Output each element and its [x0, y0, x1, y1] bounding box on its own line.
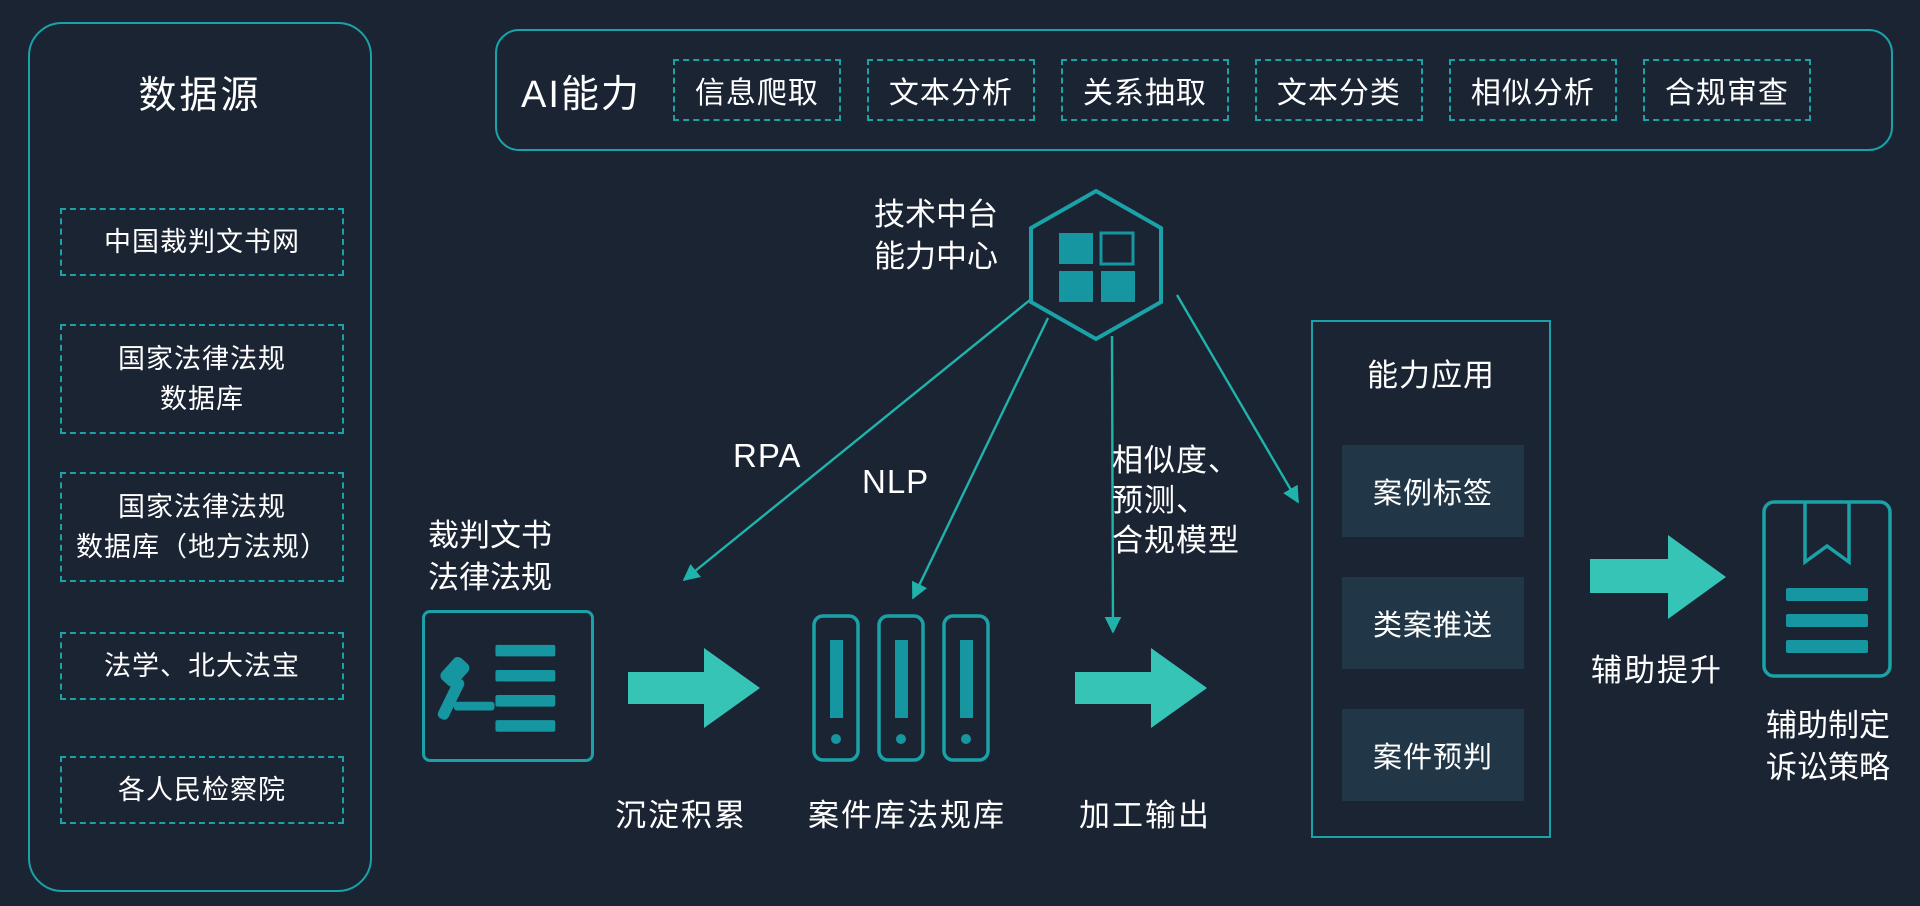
ai-capability-chip[interactable]: 文本分析 [867, 59, 1035, 121]
ai-capability-chip[interactable]: 文本分类 [1255, 59, 1423, 121]
ai-capability-chip[interactable]: 相似分析 [1449, 59, 1617, 121]
capability-application-panel: 能力应用 案例标签 类案推送 案件预判 [1311, 320, 1551, 838]
ai-capability-chip[interactable]: 合规审查 [1643, 59, 1811, 121]
edge-label-nlp: NLP [862, 462, 929, 502]
capability-application-item[interactable]: 案件预判 [1342, 709, 1524, 801]
datasource-item[interactable]: 各人民检察院 [60, 756, 344, 824]
edge-label-similarity: 相似度、 预测、 合规模型 [1112, 441, 1240, 561]
datasource-panel: 数据源 中国裁判文书网 国家法律法规 数据库 国家法律法规 数据库（地方法规） … [28, 22, 372, 892]
stage-caption-process-output: 加工输出 [1079, 790, 1211, 835]
edge-nlp-line [913, 318, 1048, 598]
flow-arrow-accumulate [628, 648, 760, 728]
datasource-item[interactable]: 中国裁判文书网 [60, 208, 344, 276]
bookmarked-document-icon [1762, 500, 1892, 678]
capability-application-title: 能力应用 [1313, 350, 1549, 395]
server-rack-icon [812, 614, 990, 762]
stage-caption-accumulate: 沉淀积累 [615, 790, 747, 835]
tech-hub-label: 技术中台 能力中心 [846, 194, 1026, 278]
gavel-document-icon [422, 610, 594, 762]
edge-label-rpa: RPA [733, 436, 801, 476]
stage-caption-assist-improve: 辅助提升 [1591, 645, 1723, 690]
ai-capability-bar: AI能力 信息爬取 文本分析 关系抽取 文本分类 相似分析 合规审查 [495, 29, 1893, 151]
datasource-item[interactable]: 国家法律法规 数据库 [60, 324, 344, 434]
capability-application-item[interactable]: 类案推送 [1342, 577, 1524, 669]
datasource-item[interactable]: 法学、北大法宝 [60, 632, 344, 700]
datasource-item[interactable]: 国家法律法规 数据库（地方法规） [60, 472, 344, 582]
result-caption: 辅助制定 诉讼策略 [1758, 705, 1898, 789]
document-stage-caption: 裁判文书 法律法规 [428, 515, 552, 599]
datasource-title: 数据源 [30, 64, 370, 119]
ai-capability-chip[interactable]: 信息爬取 [673, 59, 841, 121]
stage-caption-case-law-library: 案件库法规库 [808, 790, 1006, 835]
capability-application-item[interactable]: 案例标签 [1342, 445, 1524, 537]
ai-capability-chip[interactable]: 关系抽取 [1061, 59, 1229, 121]
hexagon-grid-icon [1026, 188, 1166, 342]
flow-arrow-process-output [1075, 648, 1207, 728]
flow-arrow-assist-improve [1590, 535, 1726, 619]
ai-capability-title: AI能力 [521, 63, 641, 118]
